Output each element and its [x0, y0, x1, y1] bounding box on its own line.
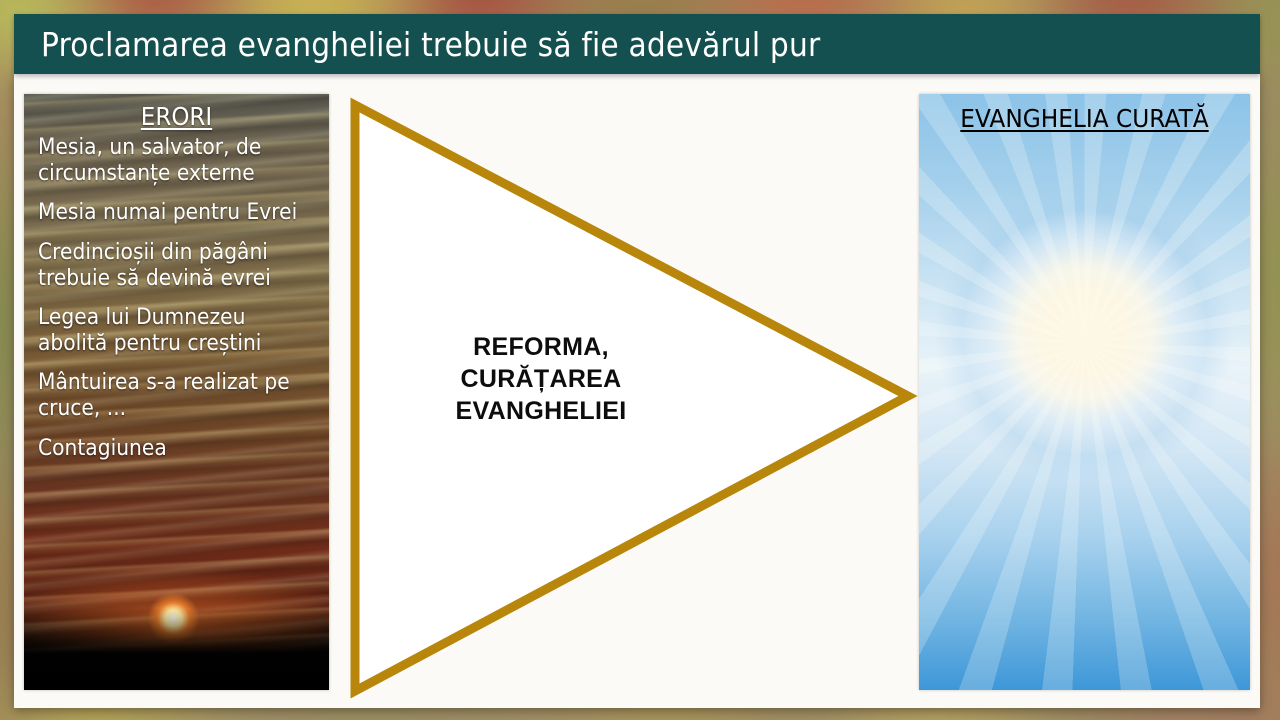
- gospel-panel: EVANGHELIA CURATĂ: [919, 94, 1250, 690]
- slide-title: Proclamarea evangheliei trebuie să fie a…: [14, 25, 820, 64]
- reform-arrow-shape: REFORMA, CURĂȚAREA EVANGHELIEI: [338, 94, 918, 702]
- blue-sky-sunburst-photo: [919, 94, 1250, 690]
- slide-title-bar: Proclamarea evangheliei trebuie să fie a…: [14, 14, 1260, 74]
- error-item: Mântuirea s-a realizat pe cruce, ...: [38, 370, 315, 421]
- error-item: Credincioșii din păgâni trebuie să devin…: [38, 240, 315, 291]
- slide-root: Proclamarea evangheliei trebuie să fie a…: [0, 0, 1280, 720]
- error-item: Mesia numai pentru Evrei: [38, 200, 315, 226]
- error-item: Mesia, un salvator, de circumstanțe exte…: [38, 135, 315, 186]
- errors-heading: ERORI: [49, 102, 304, 131]
- gospel-heading: EVANGHELIA CURATĂ: [931, 104, 1239, 133]
- errors-content: ERORI Mesia, un salvator, de circumstanț…: [24, 94, 329, 690]
- error-item: Legea lui Dumnezeu abolită pentru crești…: [38, 305, 315, 356]
- errors-panel: ERORI Mesia, un salvator, de circumstanț…: [24, 94, 329, 690]
- error-item: Contagiunea: [38, 436, 315, 462]
- reform-arrow-label: REFORMA, CURĂȚAREA EVANGHELIEI: [396, 331, 686, 427]
